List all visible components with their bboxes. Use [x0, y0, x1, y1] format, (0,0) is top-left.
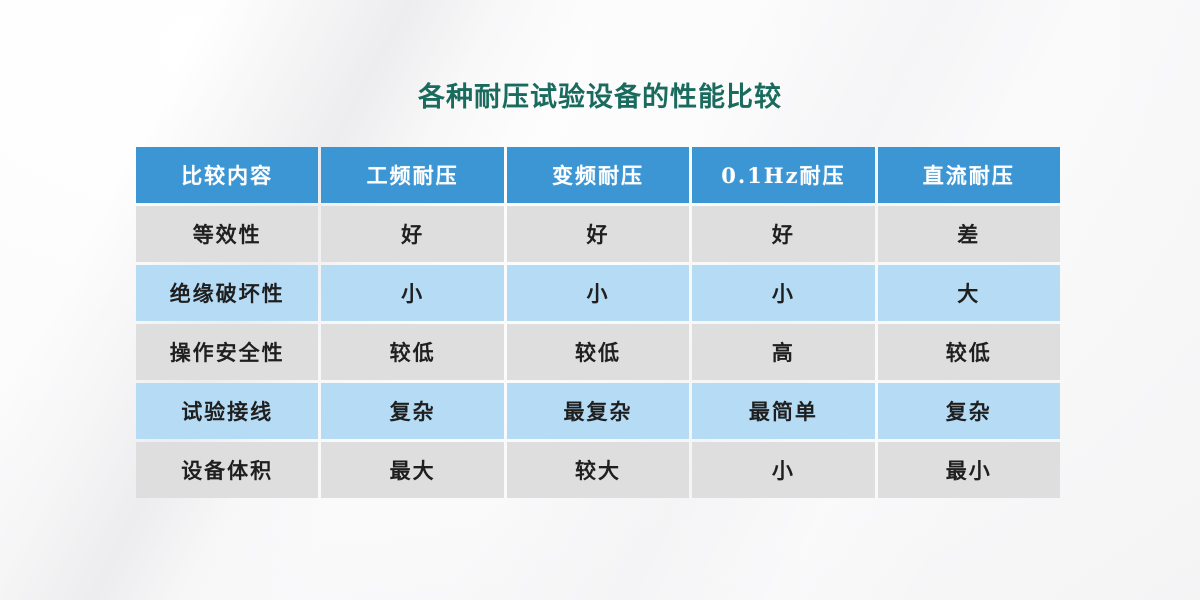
- row-label-cell: 绝缘破坏性: [136, 265, 318, 321]
- table-cell: 差: [878, 206, 1060, 262]
- table-cell: 好: [692, 206, 874, 262]
- performance-comparison-table: 比较内容 工频耐压 变频耐压 0.1Hz耐压 直流耐压 等效性 好 好 好 差 …: [133, 144, 1063, 501]
- table-cell: 较低: [507, 324, 689, 380]
- table-cell: 小: [692, 265, 874, 321]
- table-row: 设备体积 最大 较大 小 最小: [136, 442, 1060, 498]
- column-header-dc[interactable]: 直流耐压: [878, 147, 1060, 203]
- table-cell: 好: [321, 206, 503, 262]
- table-row: 绝缘破坏性 小 小 小 大: [136, 265, 1060, 321]
- page-root: 各种耐压试验设备的性能比较 比较内容 工频耐压 变频耐压 0.1Hz耐压 直流耐…: [0, 0, 1200, 600]
- table-cell: 大: [878, 265, 1060, 321]
- table-cell: 好: [507, 206, 689, 262]
- table-cell: 最复杂: [507, 383, 689, 439]
- table-cell: 小: [507, 265, 689, 321]
- row-label-cell: 操作安全性: [136, 324, 318, 380]
- table-row: 操作安全性 较低 较低 高 较低: [136, 324, 1060, 380]
- table-row: 等效性 好 好 好 差: [136, 206, 1060, 262]
- table-cell: 复杂: [878, 383, 1060, 439]
- table-cell: 小: [321, 265, 503, 321]
- table-cell: 较低: [878, 324, 1060, 380]
- table-cell: 复杂: [321, 383, 503, 439]
- table-cell: 较大: [507, 442, 689, 498]
- comparison-table-container: 比较内容 工频耐压 变频耐压 0.1Hz耐压 直流耐压 等效性 好 好 好 差 …: [136, 147, 1066, 498]
- table-row: 试验接线 复杂 最复杂 最简单 复杂: [136, 383, 1060, 439]
- table-cell: 最简单: [692, 383, 874, 439]
- table-header: 比较内容 工频耐压 变频耐压 0.1Hz耐压 直流耐压: [136, 147, 1060, 203]
- column-header-criteria[interactable]: 比较内容: [136, 147, 318, 203]
- row-label-cell: 等效性: [136, 206, 318, 262]
- row-label-cell: 试验接线: [136, 383, 318, 439]
- column-header-variable-frequency[interactable]: 变频耐压: [507, 147, 689, 203]
- table-cell: 高: [692, 324, 874, 380]
- column-header-power-frequency[interactable]: 工频耐压: [321, 147, 503, 203]
- table-cell: 最大: [321, 442, 503, 498]
- table-cell: 最小: [878, 442, 1060, 498]
- table-cell: 小: [692, 442, 874, 498]
- table-cell: 较低: [321, 324, 503, 380]
- row-label-cell: 设备体积: [136, 442, 318, 498]
- page-title: 各种耐压试验设备的性能比较: [0, 78, 1200, 118]
- column-header-vlf-01hz[interactable]: 0.1Hz耐压: [692, 147, 874, 203]
- table-body: 等效性 好 好 好 差 绝缘破坏性 小 小 小 大 操作安全性 较低 较低: [136, 206, 1060, 498]
- table-header-row: 比较内容 工频耐压 变频耐压 0.1Hz耐压 直流耐压: [136, 147, 1060, 203]
